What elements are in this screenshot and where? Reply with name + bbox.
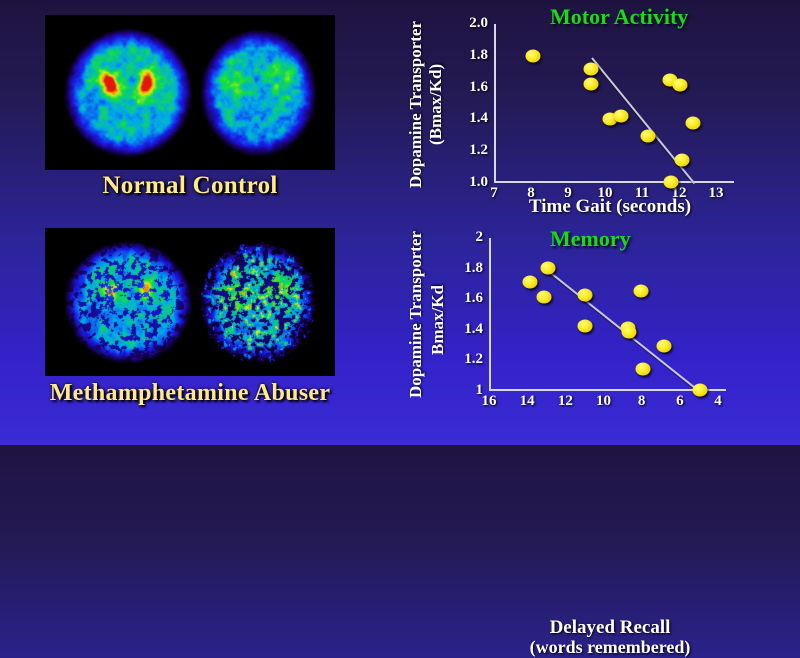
data-point — [540, 261, 555, 274]
x-tick-memory-2: 12 — [558, 393, 573, 410]
data-point — [641, 130, 656, 143]
data-point — [692, 384, 707, 397]
data-point — [686, 117, 701, 130]
data-point — [525, 49, 540, 62]
data-point — [635, 362, 650, 375]
brain-scan-image-meth — [45, 228, 335, 376]
x-axis-memory — [489, 389, 726, 391]
data-point — [583, 63, 598, 76]
y-tick-memory-3: 1.6 — [464, 290, 483, 307]
scan-caption-meth-abuser: Methamphetamine Abuser — [20, 380, 360, 407]
data-point — [621, 326, 636, 339]
data-point — [578, 319, 593, 332]
y-axis-motor — [494, 24, 496, 183]
x-axis-label-motor: Time Gait (seconds) — [470, 196, 750, 218]
scan-caption-normal-control: Normal Control — [20, 172, 360, 200]
y-tick-motor-1: 1.2 — [469, 142, 488, 159]
data-point — [523, 275, 538, 288]
data-point — [672, 79, 687, 92]
y-tick-motor-4: 1.8 — [469, 47, 488, 64]
x-tick-memory-1: 14 — [520, 393, 535, 410]
chart-memory: Memory Dopamine Transporter Bmax/Kd 11.2… — [400, 222, 800, 445]
x-tick-memory-0: 16 — [482, 393, 497, 410]
y-axis-label-motor-line2: (Bmax/Kd) — [426, 28, 446, 180]
data-point — [578, 289, 593, 302]
data-point — [613, 110, 628, 123]
x-tick-memory-5: 6 — [676, 393, 684, 410]
plot-area-memory: 11.21.41.61.8216141210864 — [489, 238, 718, 391]
chart-motor-activity: Motor Activity Dopamine Transporter (Bma… — [400, 0, 800, 222]
data-point — [633, 284, 648, 297]
y-tick-motor-2: 1.4 — [469, 111, 488, 128]
y-axis-label-motor-line1: Dopamine Transporter — [406, 14, 426, 194]
y-axis-label-memory-line2: Bmax/Kd — [428, 250, 448, 390]
x-tick-memory-6: 4 — [714, 393, 722, 410]
data-point — [656, 339, 671, 352]
x-tick-memory-4: 8 — [638, 393, 646, 410]
data-point — [537, 290, 552, 303]
plot-area-motor: 1.01.21.41.61.82.078910111213 — [494, 24, 716, 183]
y-axis-label-memory-line1: Dopamine Transporter — [406, 230, 426, 398]
data-point — [663, 176, 678, 189]
data-point — [584, 77, 599, 90]
x-tick-memory-3: 10 — [596, 393, 611, 410]
y-axis-memory — [489, 238, 491, 391]
x-axis-motor — [494, 181, 734, 183]
slide-canvas: Normal Control Methamphetamine Abuser Mo… — [0, 0, 800, 445]
data-point — [674, 153, 689, 166]
y-tick-memory-5: 2 — [476, 229, 484, 246]
x-axis-label-memory-line2: (words remembered) — [470, 637, 750, 658]
y-tick-memory-4: 1.8 — [464, 260, 483, 277]
y-tick-motor-5: 2.0 — [469, 15, 488, 32]
y-tick-memory-2: 1.4 — [464, 321, 483, 338]
y-tick-memory-1: 1.2 — [464, 352, 483, 369]
y-tick-motor-3: 1.6 — [469, 79, 488, 96]
pet-scan-meth-abuser — [45, 228, 335, 376]
brain-scan-image-normal — [45, 15, 335, 170]
x-axis-label-memory-line1: Delayed Recall — [470, 617, 750, 639]
y-tick-motor-0: 1.0 — [469, 174, 488, 191]
pet-scan-normal-control — [45, 15, 335, 170]
